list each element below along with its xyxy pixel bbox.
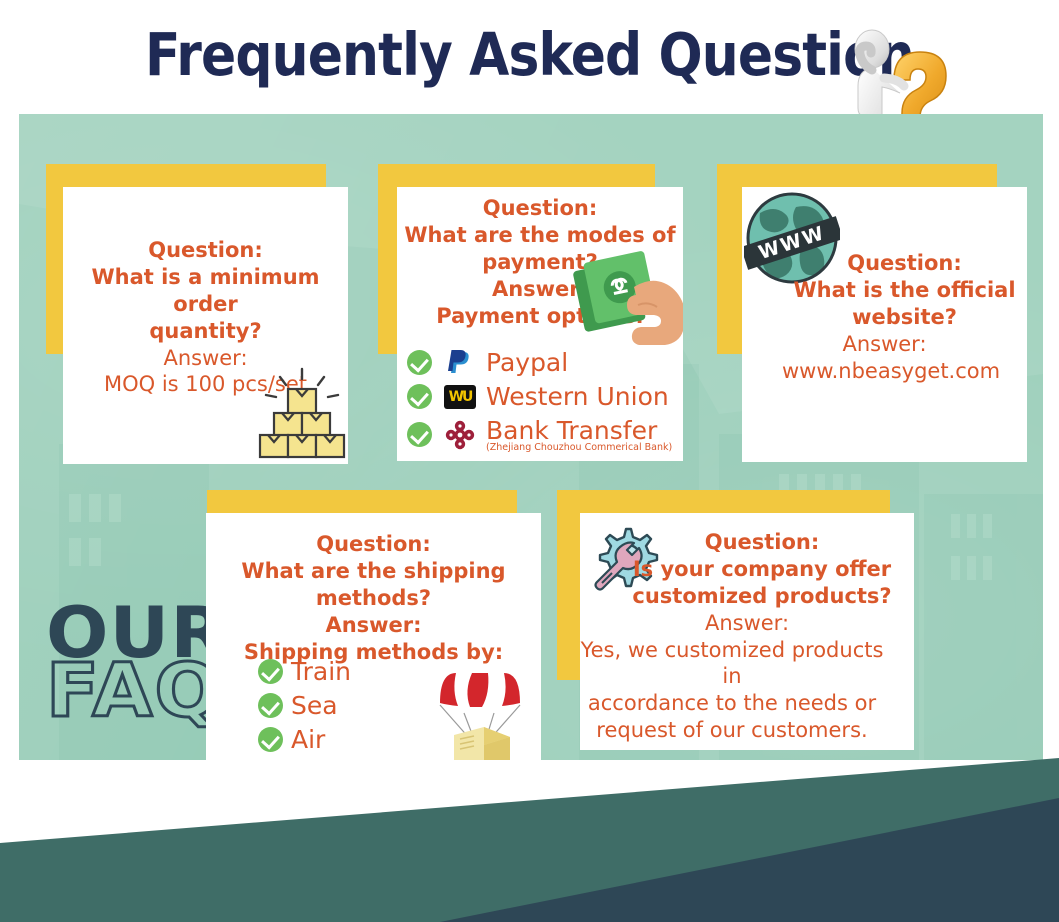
shipping-option-air[interactable]: Air	[258, 725, 351, 754]
payment-option-label: Western Union	[486, 382, 669, 411]
check-icon	[407, 384, 432, 409]
shipping-option-sea[interactable]: Sea	[258, 691, 351, 720]
card-customization-line-6: request of our customers.	[580, 717, 914, 744]
payment-option-paypal[interactable]: Paypal	[407, 347, 672, 377]
payment-option-western-union[interactable]: WU Western Union	[407, 382, 672, 411]
card-shipping: Question: What are the shipping methods?…	[206, 513, 541, 788]
card-customization-line-3: Answer:	[610, 610, 914, 637]
card-website: WWW Question: What is the official websi…	[742, 187, 1027, 462]
card-website-line-2: website?	[782, 304, 1027, 331]
card-payment-line-0: Question:	[397, 195, 683, 222]
paypal-logo-icon	[440, 347, 480, 377]
payment-option-bank-transfer[interactable]: Bank Transfer (Zhejiang Chouzhou Commeri…	[407, 416, 672, 453]
card-website-line-3: Answer:	[782, 331, 1027, 358]
shipping-option-label: Air	[291, 725, 325, 754]
parachute-package-icon	[428, 663, 533, 768]
card-moq-line-2: quantity?	[63, 318, 348, 345]
card-customization: Question: Is your company offer customiz…	[580, 513, 914, 750]
card-customization-line-1: Is your company offer	[610, 556, 914, 583]
shipping-options-list: Train Sea Air	[258, 657, 351, 759]
card-website-line-0: Question:	[782, 250, 1027, 277]
card-customization-line-5: accordance to the needs or	[580, 690, 914, 717]
card-customization-line-2: customized products?	[610, 583, 914, 610]
hand-money-icon	[572, 247, 683, 347]
bank-logo-icon	[440, 420, 480, 450]
check-icon	[258, 659, 283, 684]
western-union-logo-icon: WU	[440, 385, 480, 409]
card-moq-line-1: What is a minimum order	[63, 264, 348, 318]
shipping-option-label: Train	[291, 657, 351, 686]
payment-option-label: Bank Transfer	[486, 416, 657, 445]
card-payment: Question: What are the modes of payment?…	[397, 187, 683, 461]
card-customization-line-0: Question:	[610, 529, 914, 556]
wu-text: WU	[449, 389, 472, 405]
check-icon	[407, 350, 432, 375]
card-shipping-line-3: Shipping methods by:	[206, 639, 541, 666]
payment-option-label: Paypal	[486, 348, 568, 377]
card-website-line-1: What is the official	[782, 277, 1027, 304]
card-shipping-line-0: Question:	[206, 531, 541, 558]
shipping-option-train[interactable]: Train	[258, 657, 351, 686]
shipping-option-label: Sea	[291, 691, 338, 720]
check-icon	[258, 727, 283, 752]
payment-options-list: Paypal WU Western Union	[407, 347, 672, 458]
card-moq-line-0: Question:	[63, 237, 348, 264]
card-shipping-line-2: Answer:	[206, 612, 541, 639]
card-website-line-4: www.nbeasyget.com	[782, 358, 1027, 385]
check-icon	[258, 693, 283, 718]
bottom-diagonal-bands	[0, 758, 1059, 922]
card-customization-line-4: Yes, we customized products in	[580, 637, 914, 691]
check-icon	[407, 422, 432, 447]
boxes-icon	[258, 367, 346, 459]
faq-poster: Frequently Asked Question	[0, 0, 1059, 922]
card-moq: Question: What is a minimum order quanti…	[63, 187, 348, 464]
card-payment-line-1: What are the modes of	[397, 222, 683, 249]
payment-option-sublabel: (Zhejiang Chouzhou Commerical Bank)	[486, 442, 672, 453]
card-shipping-line-1: What are the shipping methods?	[206, 558, 541, 612]
